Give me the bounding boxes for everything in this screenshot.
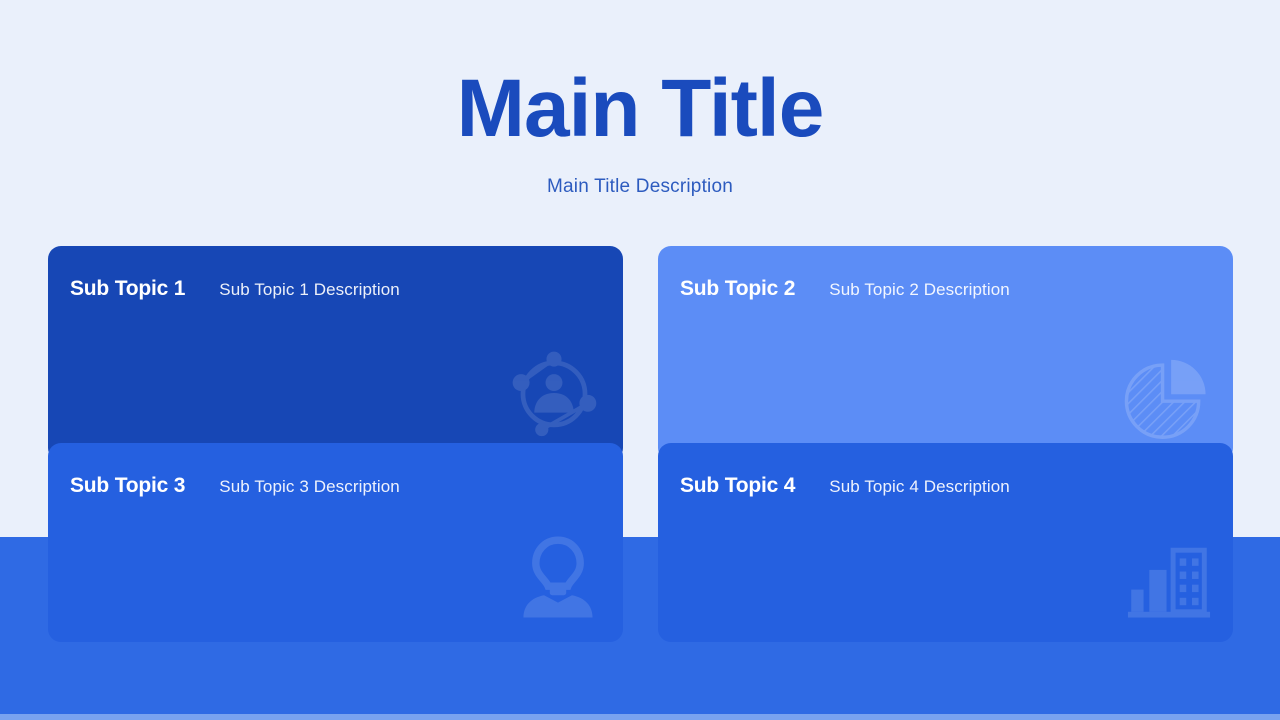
card-sub-topic-1[interactable]: Sub Topic 1 Sub Topic 1 Description xyxy=(48,246,623,461)
building-chart-icon xyxy=(1127,542,1211,620)
card-header: Sub Topic 3 Sub Topic 3 Description xyxy=(48,443,623,498)
page-subtitle: Main Title Description xyxy=(0,176,1280,198)
card-sub-topic-2[interactable]: Sub Topic 2 Sub Topic 2 Description xyxy=(658,246,1233,461)
card-description: Sub Topic 2 Description xyxy=(829,280,1010,300)
slide-canvas: Main Title Main Title Description Sub To… xyxy=(0,0,1280,720)
card-title: Sub Topic 2 xyxy=(680,277,795,301)
background-band-bottom-edge xyxy=(0,714,1280,720)
card-header: Sub Topic 4 Sub Topic 4 Description xyxy=(658,443,1233,498)
card-sub-topic-3[interactable]: Sub Topic 3 Sub Topic 3 Description xyxy=(48,443,623,642)
idea-person-icon xyxy=(521,536,595,620)
card-description: Sub Topic 1 Description xyxy=(219,280,400,300)
card-title: Sub Topic 1 xyxy=(70,277,185,301)
card-description: Sub Topic 3 Description xyxy=(219,477,400,497)
pie-chart-icon xyxy=(1123,353,1209,439)
page-title: Main Title xyxy=(0,66,1280,152)
card-description: Sub Topic 4 Description xyxy=(829,477,1010,497)
card-title: Sub Topic 4 xyxy=(680,474,795,498)
card-sub-topic-4[interactable]: Sub Topic 4 Sub Topic 4 Description xyxy=(658,443,1233,642)
card-header: Sub Topic 1 Sub Topic 1 Description xyxy=(48,246,623,301)
card-header: Sub Topic 2 Sub Topic 2 Description xyxy=(658,246,1233,301)
network-community-icon xyxy=(507,345,601,439)
slide-header: Main Title Main Title Description xyxy=(0,0,1280,198)
card-title: Sub Topic 3 xyxy=(70,474,185,498)
